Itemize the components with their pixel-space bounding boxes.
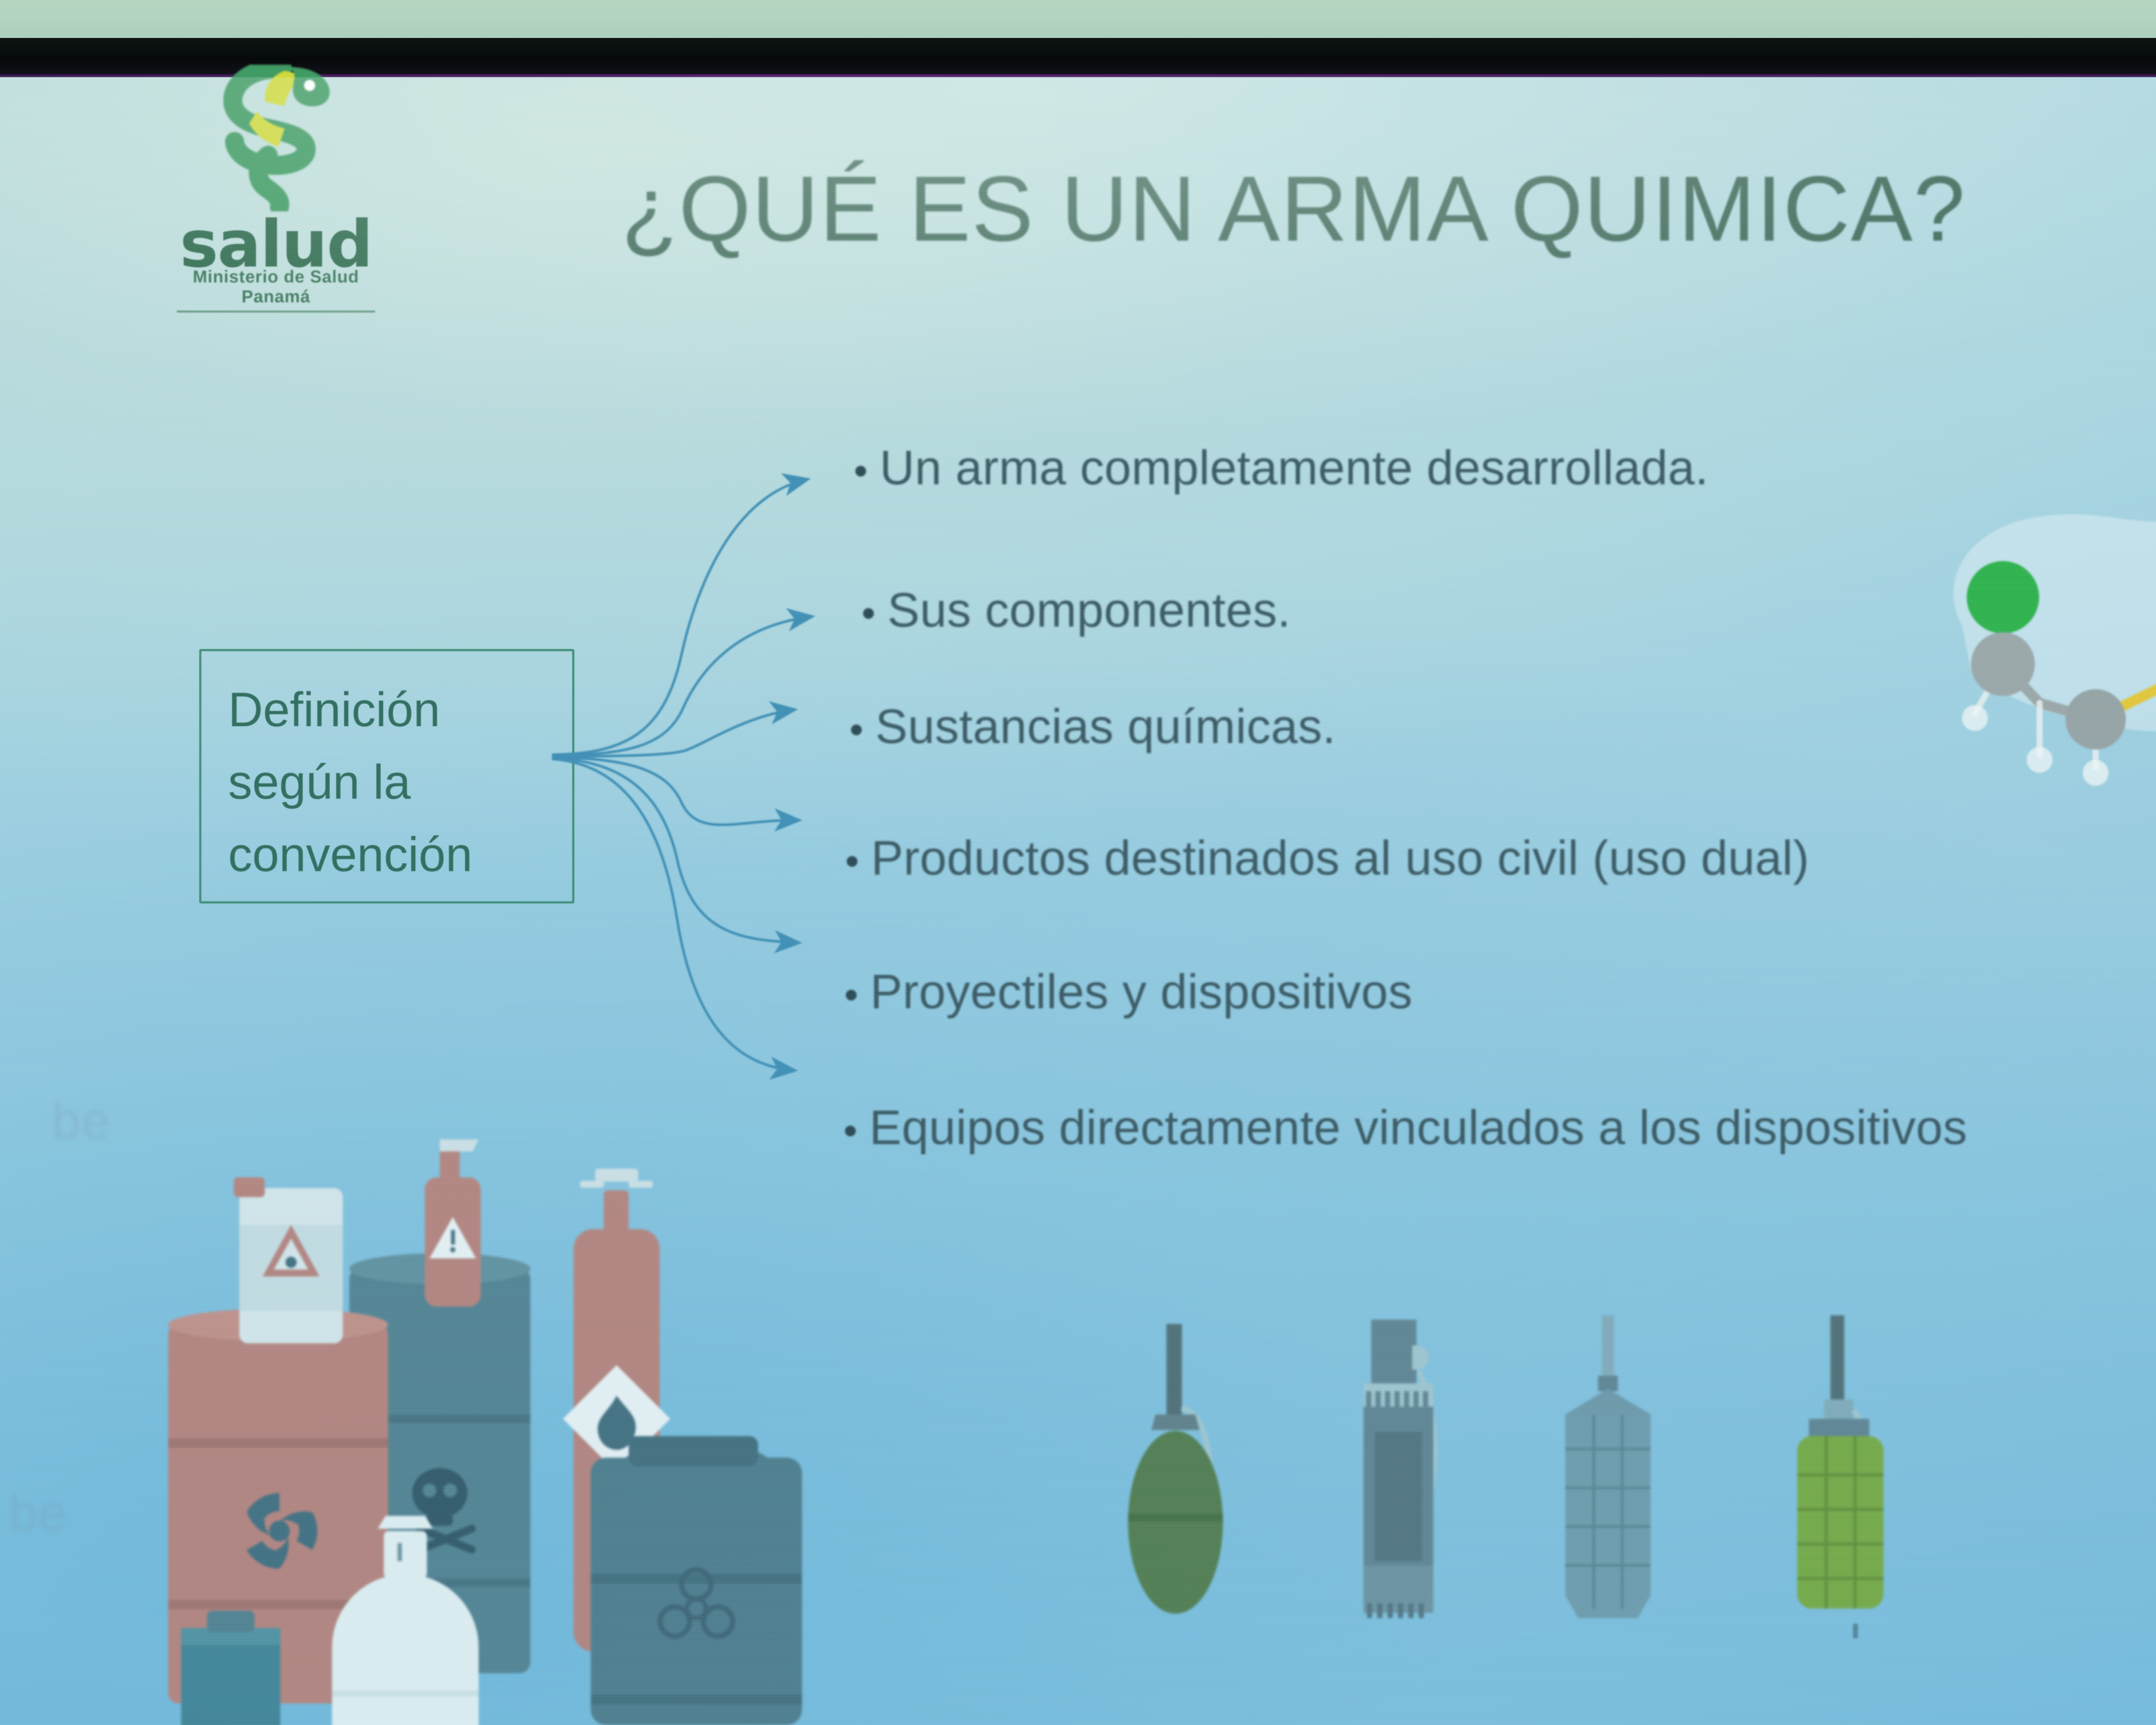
definition-line-1: Definición xyxy=(228,674,572,746)
logo-country-label: Panamá xyxy=(155,287,397,307)
sulfur-mustard-molecule-illustration xyxy=(1910,496,2156,806)
ghost-text-upper: be xyxy=(52,1091,111,1151)
definition-line-3: convención xyxy=(228,819,572,891)
bullet-marker: • xyxy=(849,710,875,750)
cylindrical-grenade xyxy=(1565,1315,1651,1618)
radioactive-jerrycan xyxy=(234,1177,343,1343)
list-item: • Sus componentes. xyxy=(862,582,1291,638)
bullet-text: Proyectiles y dispositivos xyxy=(870,964,1413,1019)
logo-ministry-label: Ministerio de Salud xyxy=(155,267,397,287)
list-item: • Un arma completamente desarrollada. xyxy=(854,440,1708,496)
list-item: • Sustancias químicas. xyxy=(849,699,1336,754)
list-item: • Proyectiles y dispositivos xyxy=(844,964,1413,1019)
bullet-text: Sus componentes. xyxy=(887,582,1291,638)
ghost-text-lower: be xyxy=(9,1483,68,1543)
grenades-illustration xyxy=(1095,1307,1984,1669)
bullet-marker: • xyxy=(854,451,880,491)
definition-line-2: según la xyxy=(228,746,572,819)
carbon-atom xyxy=(1971,632,2035,696)
bullet-text: Un arma completamente desarrollada. xyxy=(880,440,1708,496)
logo-underline xyxy=(177,310,375,313)
stray-ink-mark xyxy=(1853,1624,1858,1638)
bullet-marker: • xyxy=(843,1111,869,1151)
stick-grenade xyxy=(1363,1320,1435,1618)
carbon-atom xyxy=(2065,689,2126,750)
egg-grenade xyxy=(1128,1324,1223,1614)
presentation-screenshot: be be salud Ministerio de Salud Panamá xyxy=(0,0,2156,1725)
biohazard-barrel xyxy=(591,1436,802,1725)
list-item: • Productos destinados al uso civil (uso… xyxy=(845,830,1809,886)
hazardous-chemical-containers-illustration xyxy=(142,1117,815,1725)
bullet-marker: • xyxy=(862,593,887,633)
bullet-marker: • xyxy=(845,841,871,881)
bullet-marker: • xyxy=(844,975,870,1015)
bullet-text: Productos destinados al uso civil (uso d… xyxy=(871,830,1809,886)
chlorine-atom xyxy=(1967,561,2039,634)
list-item: • Equipos directamente vinculados a los … xyxy=(843,1100,1967,1155)
bullet-text: Equipos directamente vinculados a los di… xyxy=(869,1100,1967,1155)
warning-spray-bottle xyxy=(425,1139,481,1307)
branch-arrows xyxy=(552,431,880,1190)
slide-title: ¿QUÉ ES UN ARMA QUIMICA? xyxy=(0,155,2156,262)
definition-box: Definición según la convención xyxy=(199,649,574,903)
pineapple-grenade xyxy=(1797,1315,1883,1609)
bullet-text: Sustancias químicas. xyxy=(875,699,1336,754)
